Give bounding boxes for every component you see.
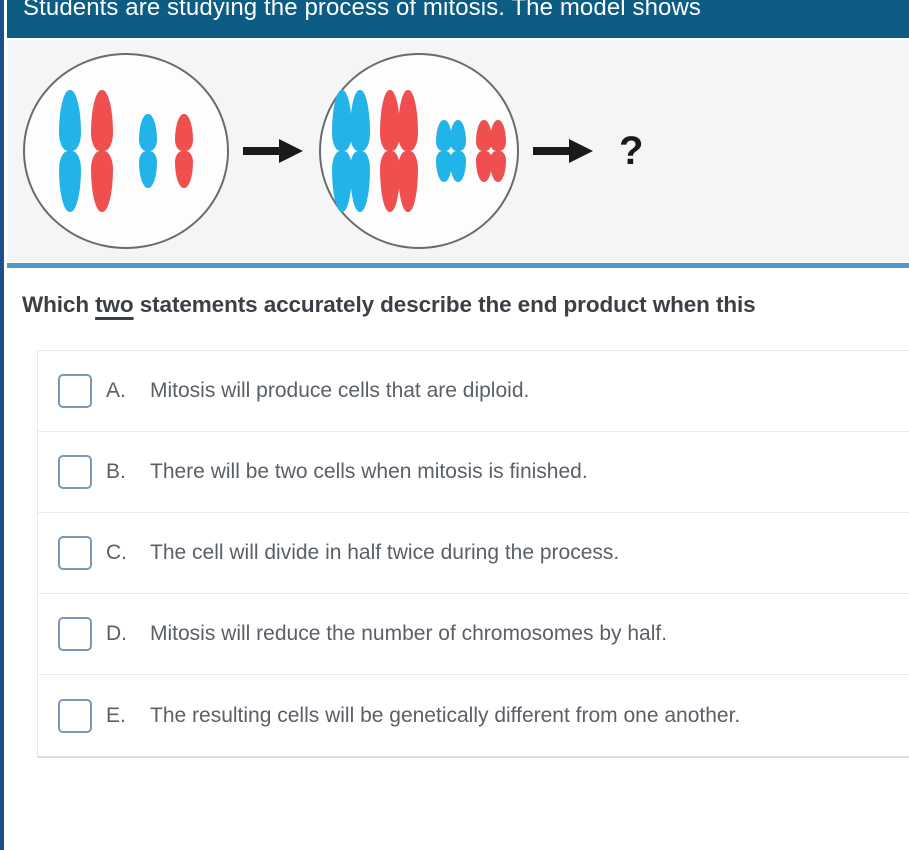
checkbox-option-d[interactable]	[58, 617, 92, 651]
chromosome-long-blue	[59, 90, 81, 212]
option-row-a[interactable]: A. Mitosis will produce cells that are d…	[38, 351, 909, 432]
parent-cell-chromosomes	[59, 55, 193, 247]
question-prompt: Which two statements accurately describe…	[22, 292, 756, 318]
question-stem-text: Students are studying the process of mit…	[23, 0, 701, 22]
option-row-b[interactable]: B. There will be two cells when mitosis …	[38, 432, 909, 513]
mitosis-diagram-panel: ?	[7, 40, 909, 262]
chromosome-long-blue	[350, 90, 370, 212]
option-text-c: The cell will divide in half twice durin…	[150, 541, 619, 565]
chromosome-pair-short-blue	[436, 120, 466, 182]
arrow-right-icon	[243, 136, 305, 166]
question-header-banner: Students are studying the process of mit…	[7, 0, 909, 38]
chromosome-short-blue	[139, 114, 157, 188]
option-row-d[interactable]: D. Mitosis will reduce the number of chr…	[38, 594, 909, 675]
checkbox-option-b[interactable]	[58, 455, 92, 489]
option-text-d: Mitosis will reduce the number of chromo…	[150, 622, 667, 646]
option-text-b: There will be two cells when mitosis is …	[150, 460, 588, 484]
chromosome-long-blue	[332, 90, 352, 212]
page-left-border-inner	[4, 0, 7, 850]
chromosome-long-red	[398, 90, 418, 212]
option-row-c[interactable]: C. The cell will divide in half twice du…	[38, 513, 909, 594]
option-text-a: Mitosis will produce cells that are dipl…	[150, 379, 529, 403]
option-letter-a: A.	[106, 379, 150, 403]
checkbox-option-a[interactable]	[58, 374, 92, 408]
option-letter-d: D.	[106, 622, 150, 646]
chromosome-short-red	[175, 114, 193, 188]
section-divider	[7, 263, 909, 268]
chromosome-long-red	[380, 90, 400, 212]
chromosome-short-red	[490, 120, 506, 182]
option-letter-e: E.	[106, 704, 150, 728]
arrow-right-icon	[533, 136, 595, 166]
question-prompt-after: statements accurately describe the end p…	[134, 292, 756, 317]
page-left-border	[0, 0, 4, 850]
checkbox-option-c[interactable]	[58, 536, 92, 570]
duplicated-cell-chromosomes	[332, 55, 506, 247]
option-row-e[interactable]: E. The resulting cells will be genetical…	[38, 675, 909, 756]
question-prompt-emphasis: two	[95, 292, 133, 317]
answer-options-list: A. Mitosis will produce cells that are d…	[37, 350, 909, 758]
unknown-result-marker: ?	[619, 131, 643, 171]
chromosome-short-blue	[450, 120, 466, 182]
option-letter-c: C.	[106, 541, 150, 565]
chromosome-pair-short-red	[476, 120, 506, 182]
question-prompt-before: Which	[22, 292, 95, 317]
duplicated-chromosomes-cell	[319, 53, 519, 249]
chromosome-long-red	[91, 90, 113, 212]
option-letter-b: B.	[106, 460, 150, 484]
checkbox-option-e[interactable]	[58, 699, 92, 733]
chromosome-pair-long-blue	[332, 90, 370, 212]
question-page: Students are studying the process of mit…	[0, 0, 909, 850]
chromosome-pair-long-red	[380, 90, 418, 212]
parent-cell	[23, 53, 229, 249]
option-text-e: The resulting cells will be genetically …	[150, 704, 740, 728]
mitosis-diagram: ?	[15, 46, 643, 256]
